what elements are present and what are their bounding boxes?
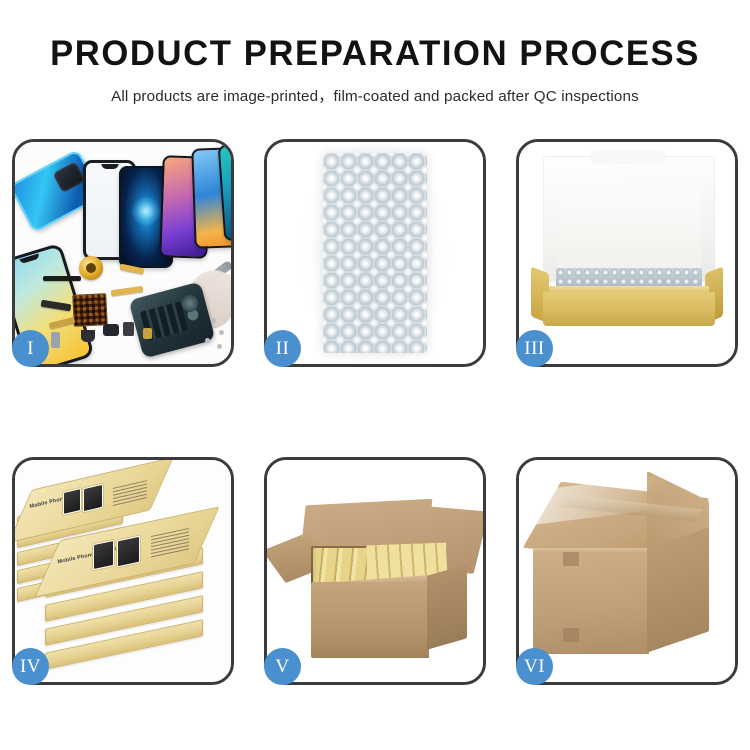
small-component-part [51,332,60,348]
flex-cable-part [111,286,144,296]
step-badge-2: II [264,330,301,367]
step-3-image [519,142,735,364]
small-component-part [123,322,134,336]
step-panel-1: I [12,139,234,367]
step-6-image [519,460,735,682]
page-subtitle: All products are image-printed，film-coat… [0,73,750,106]
header: PRODUCT PREPARATION PROCESS All products… [0,0,750,106]
carton-side-face [427,564,467,649]
carton-flap-mark [563,628,579,642]
chip-array-part [72,293,108,327]
steps-grid: I II II [12,139,738,685]
page-title: PRODUCT PREPARATION PROCESS [4,0,747,73]
step-panel-5: V [264,457,486,685]
speaker-coil-part [79,256,103,280]
box-artwork-screen [117,536,140,568]
carton-flap-mark [563,552,579,566]
step-badge-5: V [264,648,301,685]
step-2-image [267,142,483,364]
screw-part [217,344,222,349]
phone-internals-backplate [128,281,215,358]
sealed-carton-side [647,527,709,652]
sealed-carton-front [533,552,649,654]
bubble-pattern-offset [323,153,427,353]
step-panel-2: II [264,139,486,367]
small-component-part [103,324,119,336]
retail-box-stack: Mobile Phone Spare Parts Mobile Phone Sp… [17,468,231,674]
step-badge-4: IV [12,648,49,685]
step-panel-6: VI [516,457,738,685]
small-component-part [81,330,95,342]
product-preparation-infographic: PRODUCT PREPARATION PROCESS All products… [0,0,750,750]
screw-part [211,318,216,323]
step-4-image: Mobile Phone Spare Parts Mobile Phone Sp… [15,460,231,682]
box-artwork-screen [83,484,103,513]
small-component-part [143,328,152,339]
step-5-image [267,460,483,682]
step-badge-3: III [516,330,553,367]
step-badge-1: I [12,330,49,367]
box-artwork-screen [63,488,81,515]
carton-front-face [311,582,429,658]
bubble-wrap-sheet [323,153,427,353]
screw-part [219,330,224,335]
screw-part [205,338,210,343]
step-badge-6: VI [516,648,553,685]
box-artwork-screen [93,540,114,570]
flex-cable-part [43,276,81,281]
inner-box-wall [557,188,701,268]
step-panel-3: III [516,139,738,367]
step-1-image [15,142,231,364]
inner-box-front-panel [543,292,715,326]
inner-box-lid-tab [591,150,665,164]
step-panel-4: Mobile Phone Spare Parts Mobile Phone Sp… [12,457,234,685]
